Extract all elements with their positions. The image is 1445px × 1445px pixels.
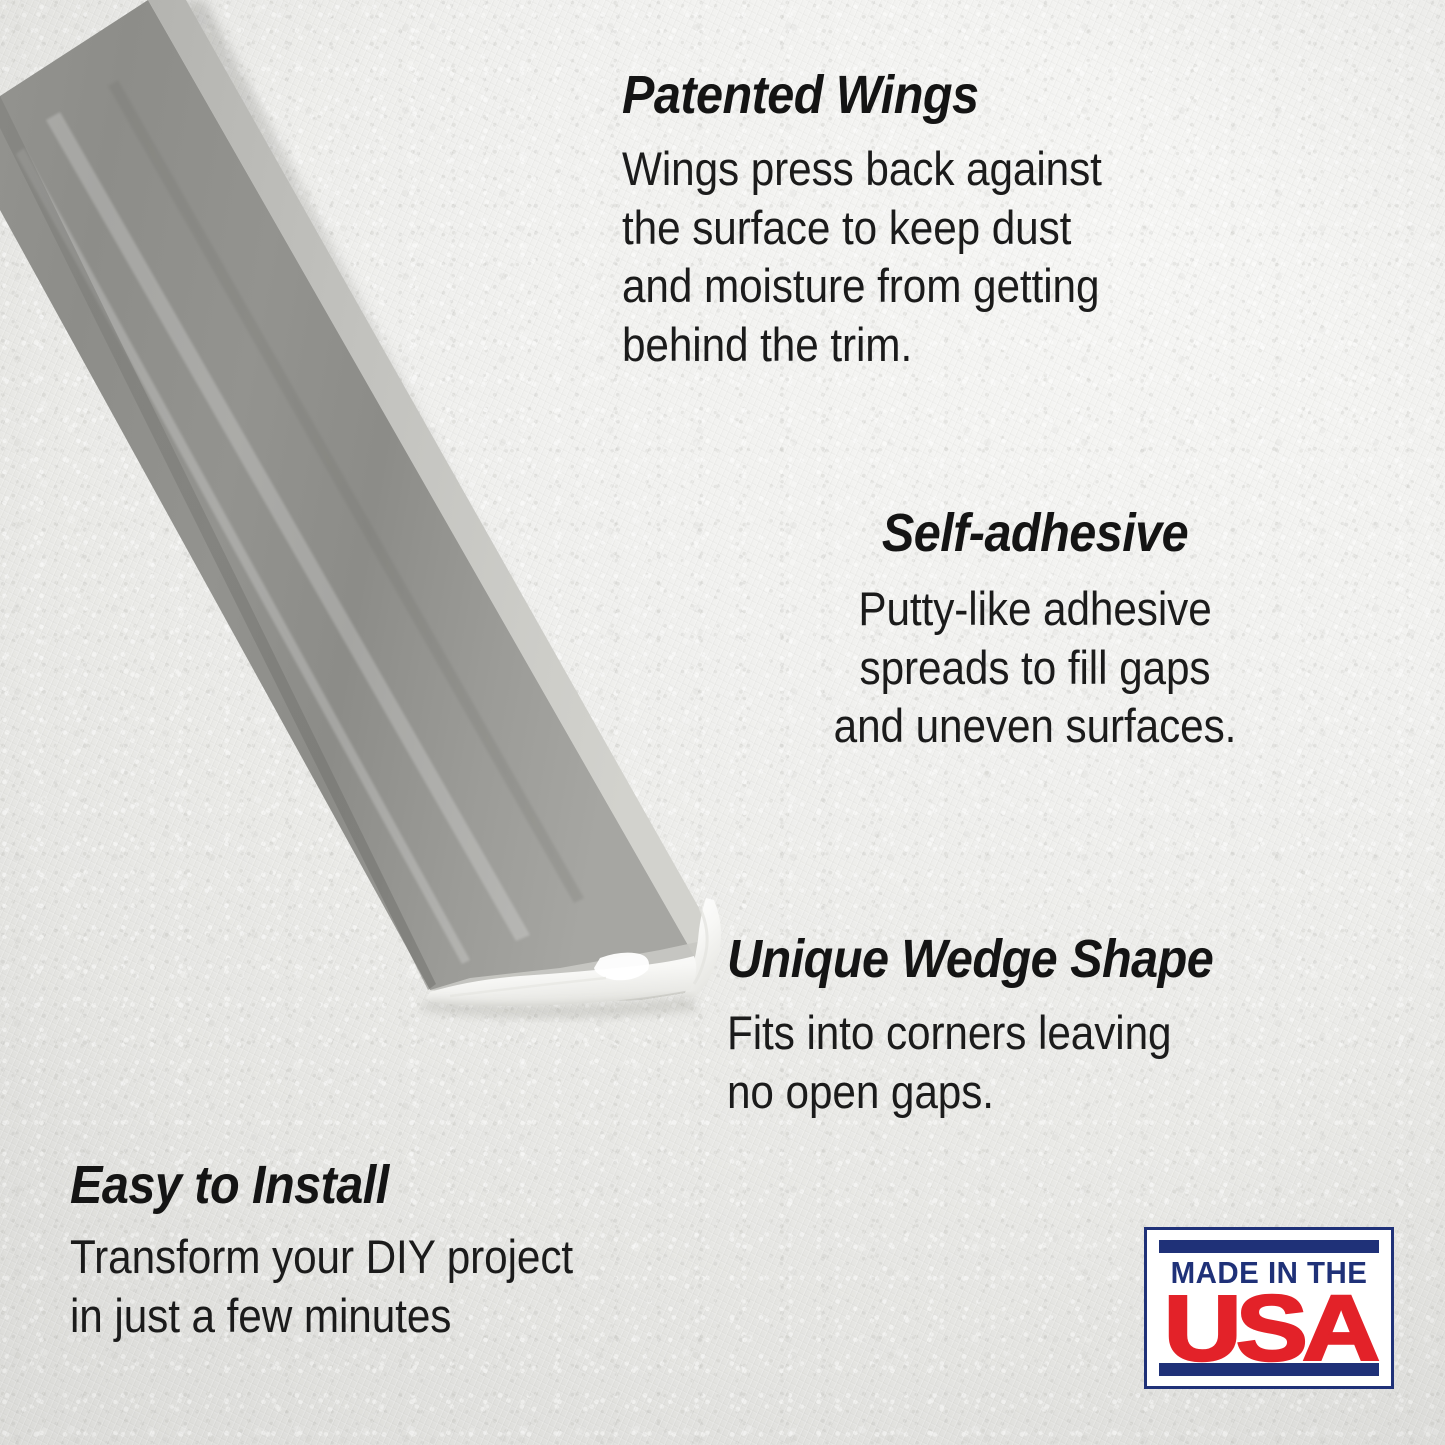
feature-heading-easy-to-install: Easy to Install bbox=[70, 1158, 700, 1212]
badge-usa-text: USA bbox=[1144, 1282, 1394, 1375]
feature-block-self-adhesive: Self-adhesive Putty-like adhesive spread… bbox=[735, 506, 1335, 756]
feature-heading-self-adhesive: Self-adhesive bbox=[765, 506, 1305, 560]
infographic-canvas: Patented Wings Wings press back against … bbox=[0, 0, 1445, 1445]
feature-block-unique-wedge-shape: Unique Wedge Shape Fits into corners lea… bbox=[727, 932, 1445, 1121]
feature-block-easy-to-install: Easy to Install Transform your DIY proje… bbox=[70, 1158, 770, 1345]
badge-bar-top bbox=[1159, 1240, 1379, 1253]
badge-bar-bottom bbox=[1159, 1363, 1379, 1376]
made-in-usa-badge: MADE IN THE USA bbox=[1144, 1227, 1394, 1389]
feature-heading-patented-wings: Patented Wings bbox=[622, 68, 1252, 122]
feature-heading-unique-wedge-shape: Unique Wedge Shape bbox=[727, 932, 1375, 986]
feature-body-unique-wedge-shape: Fits into corners leaving no open gaps. bbox=[727, 1004, 1375, 1121]
feature-block-patented-wings: Patented Wings Wings press back against … bbox=[622, 68, 1322, 374]
feature-body-patented-wings: Wings press back against the surface to … bbox=[622, 140, 1252, 374]
feature-body-self-adhesive: Putty-like adhesive spreads to fill gaps… bbox=[765, 580, 1305, 756]
feature-body-easy-to-install: Transform your DIY project in just a few… bbox=[70, 1228, 700, 1345]
